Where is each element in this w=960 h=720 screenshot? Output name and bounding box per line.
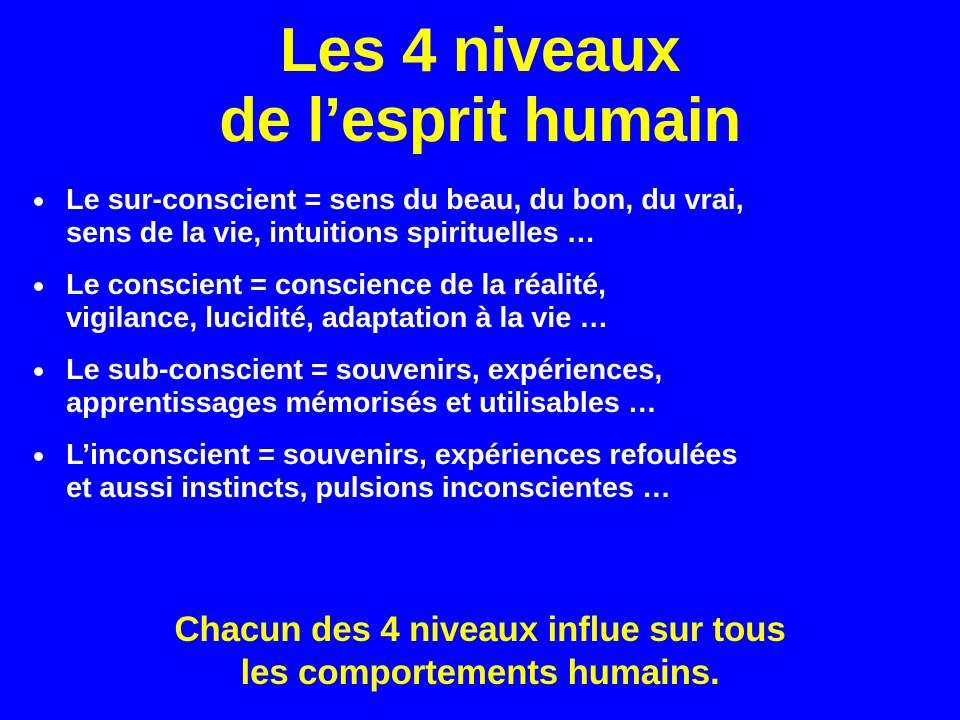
list-item-line-2: vigilance, lucidité, adaptation à la vie… — [66, 302, 942, 335]
bullet-dot-icon — [34, 452, 43, 461]
list-item-line-2: apprentissages mémorisés et utilisables … — [66, 387, 942, 420]
list-item: Le sur-conscient = sens du beau, du bon,… — [22, 184, 942, 250]
list-item-text: L’inconscient = souvenirs, expériences r… — [66, 439, 942, 505]
bullet-dot-icon — [34, 197, 43, 206]
list-item: Le conscient = conscience de la réalité,… — [22, 269, 942, 335]
list-item-line-1: L’inconscient = souvenirs, expériences r… — [66, 439, 942, 472]
list-item-text: Le sur-conscient = sens du beau, du bon,… — [66, 184, 942, 250]
bullet-dot-icon — [34, 367, 43, 376]
bullet-dot-icon — [34, 282, 43, 291]
slide-footer: Chacun des 4 niveaux influe sur tous les… — [0, 608, 960, 694]
list-item-line-2: et aussi instincts, pulsions inconscient… — [66, 472, 942, 505]
list-item: Le sub-conscient = souvenirs, expérience… — [22, 354, 942, 420]
list-item-line-1: Le sur-conscient = sens du beau, du bon,… — [66, 184, 942, 217]
bullet-list: Le sur-conscient = sens du beau, du bon,… — [22, 184, 942, 505]
list-item-line-1: Le conscient = conscience de la réalité, — [66, 269, 942, 302]
list-item-text: Le conscient = conscience de la réalité,… — [66, 269, 942, 335]
slide-canvas: Les 4 niveaux de l’esprit humain Le sur-… — [0, 0, 960, 720]
page-title: Les 4 niveaux de l’esprit humain — [0, 16, 960, 156]
footer-line-2: les comportements humains. — [0, 651, 960, 694]
title-line-2: de l’esprit humain — [0, 86, 960, 156]
list-item: L’inconscient = souvenirs, expériences r… — [22, 439, 942, 505]
list-item-line-1: Le sub-conscient = souvenirs, expérience… — [66, 354, 942, 387]
title-line-1: Les 4 niveaux — [0, 16, 960, 86]
list-item-line-2: sens de la vie, intuitions spirituelles … — [66, 217, 942, 250]
list-item-text: Le sub-conscient = souvenirs, expérience… — [66, 354, 942, 420]
footer-line-1: Chacun des 4 niveaux influe sur tous — [0, 608, 960, 651]
